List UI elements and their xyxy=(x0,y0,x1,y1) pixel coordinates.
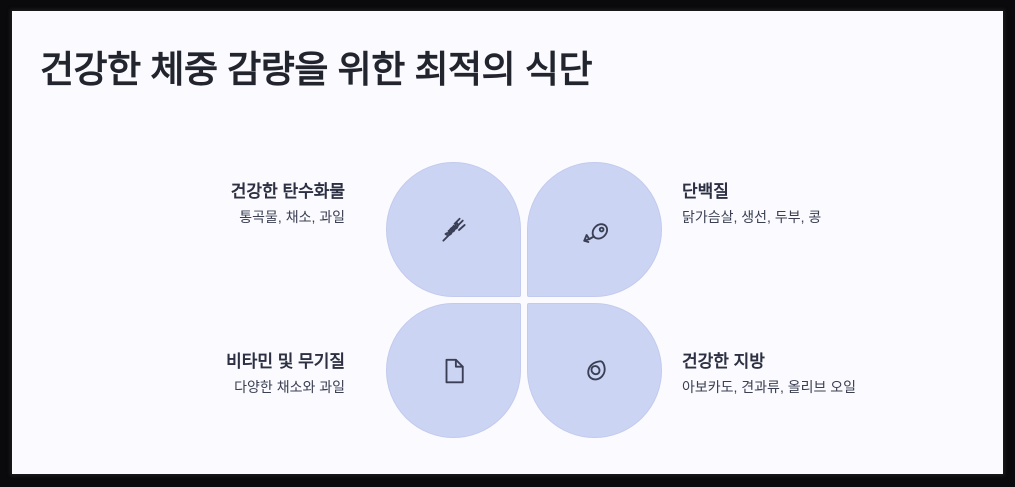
slide-card: 건강한 체중 감량을 위한 최적의 식단 xyxy=(12,11,1003,474)
quadrant-heading: 건강한 탄수화물 xyxy=(231,181,345,204)
clover-diagram xyxy=(386,162,662,438)
quadrant-subtext: 닭가슴살, 생선, 두부, 콩 xyxy=(682,207,821,228)
document-icon xyxy=(439,356,469,386)
fish-icon xyxy=(580,215,610,245)
quadrant-subtext: 다양한 채소와 과일 xyxy=(226,377,345,398)
wheat-icon xyxy=(439,215,469,245)
quadrant-heading: 건강한 지방 xyxy=(682,351,856,374)
quadrant-label-carbohydrates: 건강한 탄수화물 통곡물, 채소, 과일 xyxy=(231,181,345,228)
quadrant-label-vitamins: 비타민 및 무기질 다양한 채소와 과일 xyxy=(226,351,345,398)
quadrant-petal-fats[interactable] xyxy=(527,303,662,438)
quadrant-petal-vitamins[interactable] xyxy=(386,303,521,438)
quadrant-heading: 단백질 xyxy=(682,181,821,204)
quadrant-subtext: 통곡물, 채소, 과일 xyxy=(231,207,345,228)
quadrant-label-fats: 건강한 지방 아보카도, 견과류, 올리브 오일 xyxy=(682,351,856,398)
avocado-icon xyxy=(580,356,610,386)
quadrant-label-protein: 단백질 닭가슴살, 생선, 두부, 콩 xyxy=(682,181,821,228)
quadrant-heading: 비타민 및 무기질 xyxy=(226,351,345,374)
slide-frame: 건강한 체중 감량을 위한 최적의 식단 xyxy=(0,0,1015,487)
page-title: 건강한 체중 감량을 위한 최적의 식단 xyxy=(40,39,592,93)
quadrant-subtext: 아보카도, 견과류, 올리브 오일 xyxy=(682,377,856,398)
quadrant-petal-protein[interactable] xyxy=(527,162,662,297)
quadrant-petal-carbohydrates[interactable] xyxy=(386,162,521,297)
